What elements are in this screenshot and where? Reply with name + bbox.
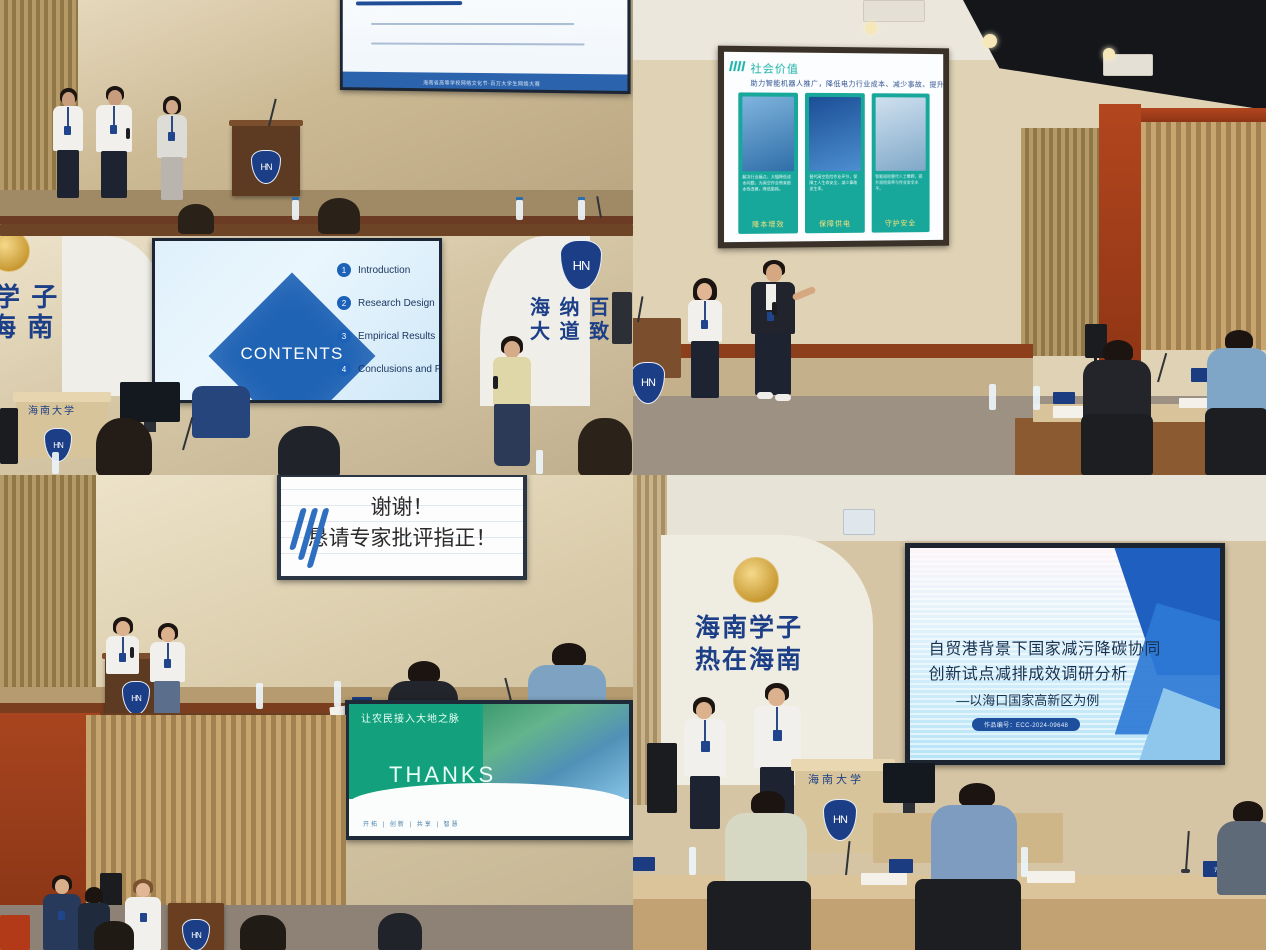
hn-initials: HN [833,814,847,826]
head [766,264,782,282]
lectern: HN [232,124,300,196]
badge [701,741,710,752]
audience-head [278,426,340,475]
water-bottle [516,200,523,220]
hair [408,661,440,683]
torso [1217,821,1266,895]
badge [58,911,65,920]
panel-bottom-left: 谢谢！ 恳请专家批评指正！ HN [0,475,633,950]
torso [931,805,1017,883]
social-value-slide: 社会价值 助力智能机器人推广，降低电力行业成本、减少事故、提升作业安全性 解决行… [724,52,943,242]
lectern-top [791,759,895,771]
card-body: 替代高空危险作业环节，保障工人生命安全，减少事故发生率。 [809,174,860,192]
panel-top-left: 海南省高等学校网络文化节·百万大学生网络大赛 [0,0,633,475]
head [768,688,785,706]
bottle-cap [578,197,585,200]
shoe [757,392,773,399]
banner-headline: 让农民接入大地之脉 [361,710,460,725]
wall-speaker [612,292,632,344]
water-bottle [536,450,543,474]
value-card: 替代高空危险作业环节，保障工人生命安全，减少事故发生率。 保障供电 [805,93,864,233]
card-photo [875,97,925,171]
microphone-base [1181,869,1190,873]
lanyard [776,707,778,731]
lanyard [167,643,169,660]
vertical-blinds [1021,128,1101,356]
seated-judge-1 [1079,340,1153,475]
presenter-2 [92,86,138,198]
badge [110,125,117,134]
head [116,621,130,636]
badge [119,653,126,662]
lectern-university-name: 海南大学 [808,771,864,787]
legs [691,341,719,398]
head [55,879,69,894]
ceiling-spotlight [865,22,877,34]
wall-slogan-line1: 海南学子 [695,615,803,641]
projection-screen-thankyou: 谢谢！ 恳请专家批评指正！ [277,475,527,580]
torso [493,357,531,405]
handheld-microphone [493,376,498,389]
hn-shield-icon: HN [251,150,281,184]
equipment-rack [647,743,677,813]
torso [725,813,807,887]
ceiling-spotlight [983,34,997,48]
legs [154,681,180,715]
toc-item-2: 2 Research Design [337,296,435,310]
slide-accent-bars-icon [730,61,744,71]
lanyard [704,301,706,321]
stage-edge [0,216,633,224]
head [161,627,175,642]
water-bottle [989,384,996,410]
head [108,90,122,106]
legs [101,151,127,198]
hn-initials: HN [53,441,63,450]
audience-head [578,418,632,475]
screen-green-thanks: 让农民接入大地之脉 THANKS 开拓 | 创新 | 共享 | 智慧 [345,700,633,840]
head [697,283,712,300]
curtain [0,475,96,707]
card-photo [742,96,794,171]
toc-number: 4 [337,362,351,376]
panel-bottom-right: 海南学子 热在海南 自贸港背景下国家减污降碳协同 创新试点减排成效调研分析 —以… [633,475,1266,950]
wood-wall-panel [1141,118,1266,350]
hair [1225,330,1253,350]
audience-head [94,921,134,950]
hair [552,643,586,667]
hair [1103,340,1133,362]
wall-sign [843,509,875,535]
lanyard [113,106,115,126]
badge [164,659,171,668]
green-thanks-slide: 让农民接入大地之脉 THANKS 开拓 | 创新 | 共享 | 智慧 [349,704,629,836]
skirt [494,404,530,466]
wall-slogan-line2: 热在海南 [695,647,803,673]
badge [701,320,708,329]
badge [64,126,71,135]
slide-subtitle: 助力智能机器人推广，降低电力行业成本、减少事故、提升作业安全性 [751,78,950,90]
male-presenter-speaking [745,260,805,400]
badge [140,913,147,922]
lanyard [704,720,706,742]
audience-head [318,198,360,234]
bottle-cap [516,197,523,200]
bullet-slide: 海南省高等学校网络文化节·百万大学生网络大赛 [343,0,628,91]
toc-label: Introduction [358,265,410,276]
handheld-microphone [126,128,130,139]
toc-label: Conclusions and Policy Implications [358,364,442,375]
card-body: 解决行业痛点，大幅降低成本问题，为高空作业带来根本性改善，降低能耗。 [742,174,794,192]
toc-item-1: 1 Introduction [337,263,410,277]
audience-head [378,913,422,950]
monitor-stand [903,803,915,813]
water-bottle [292,200,299,220]
legs [161,157,183,200]
front-table [0,224,633,236]
office-chair [915,879,1021,950]
office-chair [707,881,811,950]
event-emblem [733,557,779,603]
ceiling [633,475,1266,541]
badge [168,132,175,141]
water-bottle [578,200,585,220]
wall-screen-social-value: 社会价值 助力智能机器人推广，降低电力行业成本、减少事故、提升作业安全性 解决行… [718,46,949,249]
projection-screen-bullets: 海南省高等学校网络文化节·百万大学生网络大赛 [340,0,631,94]
shoe [775,394,791,401]
wall-screen-title: 自贸港背景下国家减污降碳协同 创新试点减排成效调研分析 —以海口国家高新区为例 … [905,543,1225,765]
water-bottle [1021,847,1028,877]
head [62,92,75,107]
lectern-university-name: 海南大学 [28,402,76,417]
toc-number: 1 [337,263,351,277]
lectern-top [13,392,111,402]
wall-motto-line1: 海 纳 百 [530,298,611,319]
presentation-screen-contents: CONTENTS 1 Introduction 2 Research Desig… [152,238,442,403]
seated-judge-1 [721,791,811,950]
card-caption: 降本增效 [742,219,794,230]
lanyard [122,637,124,654]
title-subtitle: —以海口国家高新区为例 [941,690,1115,709]
judge-nameplate [1053,392,1075,404]
female-presenter [683,278,727,398]
red-wall-trim [1141,108,1266,122]
toc-label: Empirical Results [358,331,435,342]
title-line2: 创新试点减排成效调研分析 [929,660,1115,684]
slide-heading-bar [356,1,462,5]
legs [755,333,791,395]
wall-motto-line2: 大 道 致 [530,322,611,343]
thanks-label: THANKS [389,762,496,788]
water-bottle [689,847,696,875]
water-bottle [256,683,263,709]
legs [690,776,720,829]
handheld-microphone [130,647,134,658]
office-chair [1205,408,1266,475]
hn-shield-icon: HN [182,919,210,950]
head [136,883,150,897]
paper-stack [1027,871,1075,883]
audience-head [240,915,286,950]
hn-initials: HN [191,931,201,940]
hn-initials: HN [573,258,590,273]
toc-number: 3 [337,329,351,343]
water-bottle [52,452,59,474]
hn-initials: HN [261,162,272,172]
value-card: 智能巡检替代人工攀爬，提升巡检效率与作业安全水平。 守护安全 [871,93,929,232]
hn-initials: HN [641,377,655,389]
judge-nameplate [633,857,655,871]
card-caption: 守护安全 [875,218,925,228]
panel-top-right: 社会价值 助力智能机器人推广，降低电力行业成本、减少事故、提升作业安全性 解决行… [633,0,1266,475]
subphoto-stage-bullets: 海南省高等学校网络文化节·百万大学生网络大赛 [0,0,633,236]
presenter-right [147,623,189,715]
judge-nameplate [889,859,913,873]
toc-item-3: 3 Empirical Results [337,329,435,343]
water-bottle [1033,386,1040,410]
slide-title: 社会价值 [751,60,799,77]
work-number-badge: 作品编号：ECC-2024-09648 [972,718,1080,731]
presenter-3 [152,96,192,200]
head [696,702,712,719]
photo-collage: 海南省高等学校网络文化节·百万大学生网络大赛 [0,0,1266,950]
hair [959,783,995,807]
lectern: HN [168,903,224,950]
value-card: 解决行业痛点，大幅降低成本问题，为高空作业带来根本性改善，降低能耗。 降本增效 [738,92,798,234]
card-body: 智能巡检替代人工攀爬，提升巡检效率与作业安全水平。 [875,174,925,192]
office-chair [1081,414,1153,475]
seated-judge-2 [929,783,1021,950]
presenter-left [103,617,143,709]
badge [773,730,782,741]
decorative-strokes-icon [295,508,321,568]
seated-judge-2 [1207,330,1266,475]
office-chair [192,386,250,438]
slide-card-row: 解决行业痛点，大幅降低成本问题，为高空作业带来根本性改善，降低能耗。 降本增效 … [738,92,929,234]
floor-speaker [0,408,18,464]
handheld-microphone [772,302,777,315]
legs [57,150,79,198]
card-photo [809,97,860,171]
bottle-cap [292,197,299,200]
seated-judge-3 [1217,801,1266,950]
project-title-slide: 自贸港背景下国家减污降碳协同 创新试点减排成效调研分析 —以海口国家高新区为例 … [910,548,1220,760]
toc-number: 2 [337,296,351,310]
presenter-with-microphone [487,336,537,466]
toc-item-4: 4 Conclusions and Policy Implications [337,362,442,376]
audience-head [96,418,152,475]
title-line1: 自贸港背景下国家减污降碳协同 [929,635,1115,659]
toc-label: Research Design [358,298,435,309]
paper-stack [1179,398,1209,408]
ac-vent [863,0,925,22]
wall-slogan-fragment-2: 海 南 [0,314,55,341]
head [166,100,178,114]
hair [1233,801,1263,823]
banner-footer: 开拓 | 创新 | 共享 | 智慧 [363,819,460,828]
floor-fixture [0,915,30,950]
contents-label: CONTENTS [215,344,369,364]
wall-slogan-fragment-1: 学 子 [0,284,59,311]
computer-monitor [883,763,935,803]
contents-slide: CONTENTS 1 Introduction 2 Research Desig… [155,241,439,400]
chinese-thank-you-slide: 谢谢！ 恳请专家批评指正！ [281,477,523,576]
lanyard [67,107,69,127]
ceiling-spotlight [1103,48,1115,60]
presenter-1 [48,88,88,198]
lectern-top [229,120,303,126]
audience-head [178,204,214,234]
hair [85,887,103,903]
hair [751,791,785,815]
head [504,341,520,358]
subphoto-contents-scene: 学 子 海 南 HN 海 纳 百 大 道 致 CONTENTS 1 Introd… [0,236,633,475]
paper-stack [861,873,907,885]
card-caption: 保障供电 [809,219,860,229]
water-bottle [334,681,341,707]
computer-monitor [120,382,180,422]
